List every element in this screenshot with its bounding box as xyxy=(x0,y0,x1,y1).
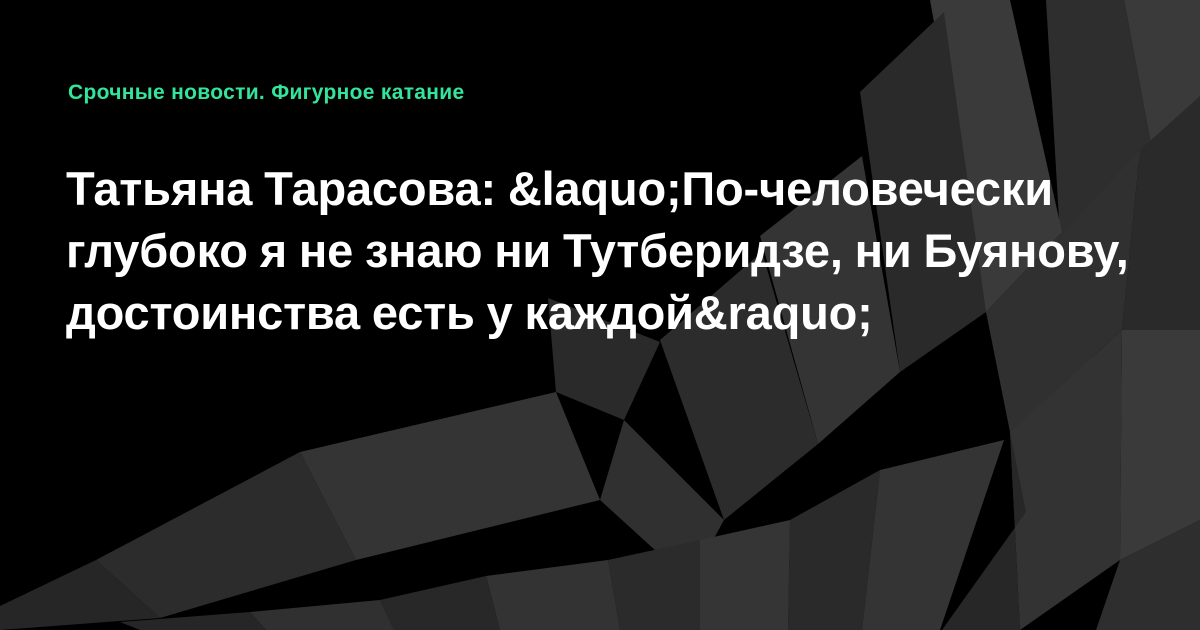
headline-title: Татьяна Тарасова: &laquo;По-человечески … xyxy=(66,158,1141,344)
category-kicker: Срочные новости. Фигурное катание xyxy=(68,80,465,106)
share-card: Срочные новости. Фигурное катание Татьян… xyxy=(0,0,1200,630)
card-content: Срочные новости. Фигурное катание Татьян… xyxy=(0,0,1200,630)
